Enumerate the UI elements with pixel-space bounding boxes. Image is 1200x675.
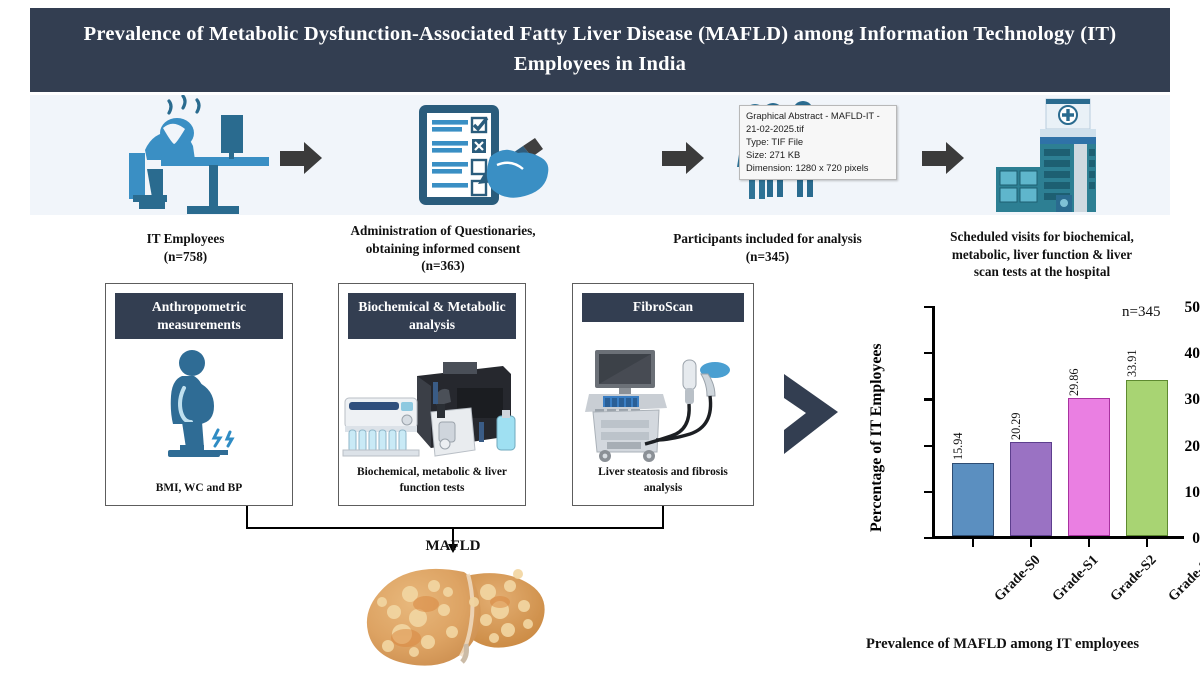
tooltip-dimension: Dimension: 1280 x 720 pixels [746, 162, 891, 175]
method-box-footer: Liver steatosis and fibrosis analysis [579, 465, 747, 496]
bracket-right-stem [662, 506, 664, 528]
bracket-horizontal [246, 527, 664, 529]
flow-arrow-2-icon [662, 142, 706, 175]
tooltip-filename: Graphical Abstract - MAFLD-IT - 21-02-20… [746, 110, 891, 136]
bar-grade-s2 [1068, 398, 1110, 536]
bar-value-grade-s2: 29.86 [1067, 369, 1082, 396]
stressed-it-employee-at-desk-icon [125, 95, 305, 215]
xtick-2 [1088, 539, 1090, 547]
chart-y-axis-label: Percentage of IT Employees [868, 343, 886, 532]
stage-caption-it-employees: IT Employees (n=758) [98, 230, 273, 265]
bar-grade-s3 [1126, 380, 1168, 536]
ytick-label-40: 40 [1142, 346, 1200, 362]
questionnaire-clipboard-with-pen-icon [405, 95, 585, 215]
hospital-building-icon [990, 95, 1140, 215]
xtick-0 [972, 539, 974, 547]
flow-chevron-to-chart-icon [776, 372, 848, 461]
ytick-30 [924, 398, 933, 400]
method-box-anthropometric: Anthropometric measurements [105, 283, 293, 506]
xtick-3 [1146, 539, 1148, 547]
xtick-1 [1030, 539, 1032, 547]
bar-grade-s0 [952, 463, 994, 537]
method-box-header: Anthropometric measurements [115, 293, 283, 339]
ytick-0 [924, 537, 933, 539]
bar-value-grade-s1: 20.29 [1009, 413, 1024, 440]
bar-grade-s1 [1010, 442, 1052, 536]
mafld-prevalence-bar-chart: 0 10 20 30 40 50 Percentage of IT Employ… [862, 300, 1200, 660]
mafld-outcome-label: MAFLD [392, 538, 514, 555]
bar-value-grade-s0: 15.94 [951, 433, 966, 460]
method-box-fibroscan: FibroScan [572, 283, 754, 506]
tooltip-type: Type: TIF File [746, 136, 891, 149]
stage-caption-participants: Participants included for analysis (n=34… [630, 230, 905, 265]
xtick-label-grade-s1: Grade-S1 [1049, 552, 1102, 605]
lab-analyzer-equipment-icon [339, 360, 525, 466]
flow-arrow-1-icon [280, 142, 324, 175]
chart-caption: Prevalence of MAFLD among IT employees [866, 636, 1139, 653]
method-box-header: FibroScan [582, 293, 744, 322]
xtick-label-grade-s0: Grade-S0 [991, 552, 1044, 605]
stage-caption-questionnaire: Administration of Questionaries, obtaini… [318, 222, 568, 275]
fatty-liver-illustration [348, 558, 563, 670]
flow-arrow-3-icon [922, 142, 966, 175]
stage-caption-hospital-visits: Scheduled visits for biochemical, metabo… [898, 228, 1186, 281]
workflow-icon-banner [30, 95, 1170, 215]
chart-n-annotation: n=345 [1122, 304, 1160, 321]
bar-value-grade-s3: 33.91 [1125, 350, 1140, 377]
method-box-footer: Biochemical, metabolic & liver function … [345, 465, 519, 496]
method-box-header: Biochemical & Metabolic analysis [348, 293, 516, 339]
title-banner: Prevalence of Metabolic Dysfunction-Asso… [30, 8, 1170, 92]
method-box-biochemical: Biochemical & Metabolic analysis [338, 283, 526, 506]
bracket-left-stem [246, 506, 248, 528]
ytick-20 [924, 445, 933, 447]
ytick-50 [924, 306, 933, 308]
page-title: Prevalence of Metabolic Dysfunction-Asso… [58, 20, 1143, 79]
ytick-40 [924, 352, 933, 354]
chart-y-axis [932, 306, 935, 538]
ytick-10 [924, 491, 933, 493]
file-info-tooltip: Graphical Abstract - MAFLD-IT - 21-02-20… [739, 105, 897, 180]
tooltip-size: Size: 271 KB [746, 149, 891, 162]
ultrasound-fibroscan-machine-icon [573, 346, 753, 464]
xtick-label-grade-s3: Grade-S3 [1165, 552, 1200, 605]
obese-person-on-weighing-scale-icon [106, 346, 292, 466]
xtick-label-grade-s2: Grade-S2 [1107, 552, 1160, 605]
method-box-footer: BMI, WC and BP [112, 481, 286, 496]
